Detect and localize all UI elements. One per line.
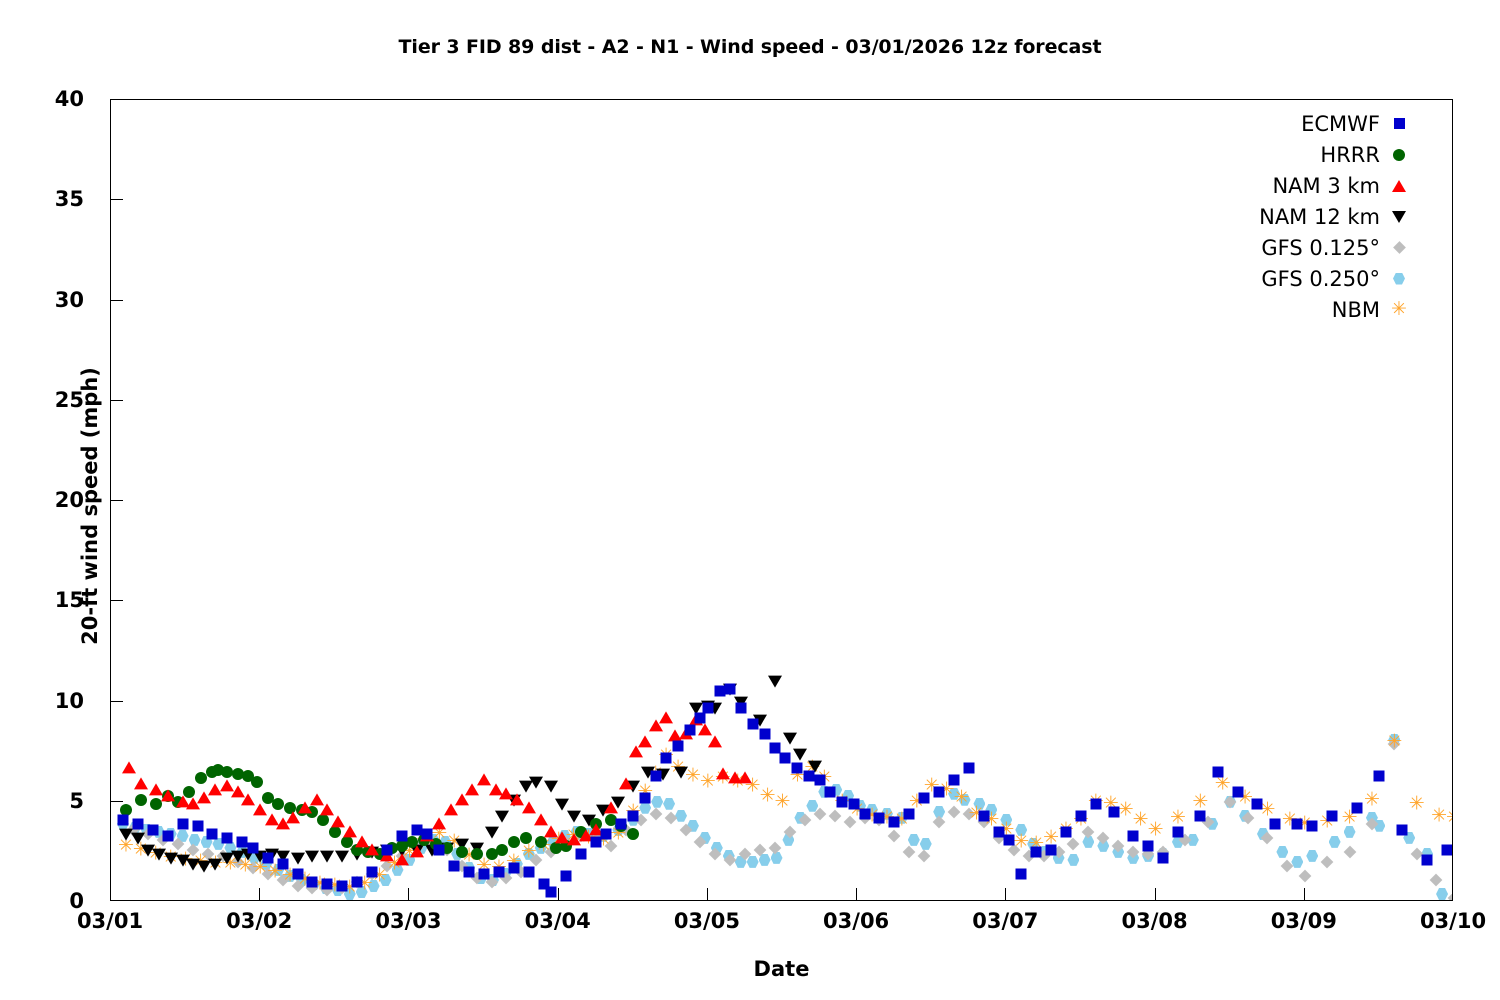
data-point bbox=[307, 876, 318, 887]
data-point bbox=[934, 786, 945, 797]
data-point bbox=[576, 848, 587, 859]
legend-item-ecmwf[interactable]: ECMWF bbox=[1160, 108, 1410, 139]
data-point bbox=[859, 808, 870, 819]
y-tick-label: 10 bbox=[14, 689, 84, 713]
data-point bbox=[780, 752, 791, 763]
data-point bbox=[411, 824, 422, 835]
data-point bbox=[1061, 826, 1072, 837]
square-marker-icon bbox=[1388, 113, 1410, 135]
data-point bbox=[673, 740, 684, 751]
y-tick-label: 20 bbox=[14, 488, 84, 512]
asterisk-marker-icon: ✳ bbox=[1388, 299, 1410, 321]
x-tick-label: 03/08 bbox=[1121, 909, 1187, 933]
data-point bbox=[759, 728, 770, 739]
data-point bbox=[837, 796, 848, 807]
data-point bbox=[601, 828, 612, 839]
data-point bbox=[978, 810, 989, 821]
data-point bbox=[464, 866, 475, 877]
data-point bbox=[192, 820, 203, 831]
y-tick-label: 0 bbox=[14, 889, 84, 913]
data-point bbox=[725, 684, 736, 695]
data-point bbox=[546, 886, 557, 897]
x-tick-label: 03/04 bbox=[525, 909, 591, 933]
x-tick-mark bbox=[1155, 888, 1156, 901]
data-point bbox=[770, 742, 781, 753]
data-point bbox=[628, 810, 639, 821]
data-point bbox=[367, 866, 378, 877]
y-tick-label: 5 bbox=[14, 789, 84, 813]
data-point bbox=[714, 686, 725, 697]
data-point bbox=[1374, 770, 1385, 781]
data-point bbox=[508, 862, 519, 873]
data-point bbox=[1046, 844, 1057, 855]
data-point bbox=[825, 786, 836, 797]
data-point bbox=[1441, 844, 1452, 855]
y-tick-label: 25 bbox=[14, 388, 84, 412]
data-point bbox=[889, 816, 900, 827]
y-tick-mark bbox=[110, 600, 123, 601]
data-point bbox=[792, 762, 803, 773]
x-tick-mark bbox=[408, 888, 409, 901]
data-point bbox=[1232, 786, 1243, 797]
legend-item-nbm[interactable]: NBM✳ bbox=[1160, 294, 1410, 325]
legend-item-nam-3-km[interactable]: NAM 3 km bbox=[1160, 170, 1410, 201]
data-point bbox=[849, 798, 860, 809]
y-tick-label: 30 bbox=[14, 288, 84, 312]
data-point bbox=[262, 852, 273, 863]
data-point bbox=[479, 868, 490, 879]
data-point bbox=[804, 770, 815, 781]
data-point bbox=[1252, 798, 1263, 809]
chart-figure: Tier 3 FID 89 dist - A2 - N1 - Wind spee… bbox=[0, 0, 1500, 1000]
chart-legend: ECMWFHRRRNAM 3 kmNAM 12 kmGFS 0.125°GFS … bbox=[1160, 108, 1410, 325]
data-point bbox=[702, 702, 713, 713]
diamond-marker-icon bbox=[1388, 237, 1410, 259]
data-point bbox=[1352, 802, 1363, 813]
x-tick-label: 03/06 bbox=[823, 909, 889, 933]
data-point bbox=[1031, 846, 1042, 857]
data-point bbox=[434, 844, 445, 855]
data-point bbox=[919, 792, 930, 803]
y-tick-mark bbox=[110, 400, 123, 401]
x-axis-label: Date bbox=[110, 957, 1453, 981]
data-point bbox=[1292, 818, 1303, 829]
x-tick-mark bbox=[1005, 888, 1006, 901]
data-point bbox=[449, 860, 460, 871]
data-point bbox=[1172, 826, 1183, 837]
data-point bbox=[650, 770, 661, 781]
data-point bbox=[322, 878, 333, 889]
data-point bbox=[337, 880, 348, 891]
x-tick-mark bbox=[259, 888, 260, 901]
x-tick-mark bbox=[1304, 888, 1305, 901]
y-tick-label: 15 bbox=[14, 588, 84, 612]
x-tick-label: 03/03 bbox=[375, 909, 441, 933]
data-point bbox=[590, 836, 601, 847]
y-tick-mark bbox=[110, 300, 123, 301]
data-point bbox=[1075, 810, 1086, 821]
data-point bbox=[277, 858, 288, 869]
data-point bbox=[747, 718, 758, 729]
data-point bbox=[993, 826, 1004, 837]
data-point bbox=[237, 836, 248, 847]
data-point bbox=[1090, 798, 1101, 809]
y-tick-mark bbox=[110, 199, 123, 200]
data-point bbox=[177, 818, 188, 829]
data-point bbox=[247, 842, 258, 853]
data-point bbox=[1004, 834, 1015, 845]
data-point bbox=[640, 792, 651, 803]
x-tick-label: 03/05 bbox=[674, 909, 740, 933]
data-point bbox=[904, 808, 915, 819]
data-point bbox=[661, 752, 672, 763]
data-point bbox=[695, 712, 706, 723]
data-point bbox=[684, 724, 695, 735]
data-point bbox=[874, 812, 885, 823]
data-point bbox=[1213, 766, 1224, 777]
x-tick-mark bbox=[856, 888, 857, 901]
x-tick-mark bbox=[558, 888, 559, 901]
data-point bbox=[1016, 868, 1027, 879]
data-point bbox=[1195, 810, 1206, 821]
data-point bbox=[396, 830, 407, 841]
data-point bbox=[493, 866, 504, 877]
legend-item-gfs-0-125[interactable]: GFS 0.125° bbox=[1160, 232, 1410, 263]
data-point bbox=[1108, 806, 1119, 817]
data-point bbox=[814, 774, 825, 785]
data-point bbox=[561, 870, 572, 881]
x-tick-label: 03/07 bbox=[972, 909, 1038, 933]
data-point bbox=[949, 774, 960, 785]
data-point bbox=[147, 824, 158, 835]
data-point bbox=[132, 818, 143, 829]
hexagon-marker-icon bbox=[1388, 268, 1410, 290]
data-point bbox=[1307, 820, 1318, 831]
x-tick-label: 03/09 bbox=[1271, 909, 1337, 933]
x-tick-label: 03/10 bbox=[1420, 909, 1486, 933]
data-point bbox=[352, 876, 363, 887]
data-point bbox=[222, 832, 233, 843]
y-tick-mark bbox=[110, 701, 123, 702]
data-point bbox=[964, 762, 975, 773]
data-point bbox=[382, 844, 393, 855]
data-point bbox=[207, 828, 218, 839]
data-point bbox=[1128, 830, 1139, 841]
x-tick-label: 03/02 bbox=[226, 909, 292, 933]
triangle-up-marker-icon bbox=[1388, 175, 1410, 197]
legend-item-gfs-0-250[interactable]: GFS 0.250° bbox=[1160, 263, 1410, 294]
y-tick-label: 40 bbox=[14, 87, 84, 111]
y-tick-mark bbox=[110, 801, 123, 802]
data-point bbox=[1269, 818, 1280, 829]
x-tick-mark bbox=[707, 888, 708, 901]
circle-marker-icon bbox=[1388, 144, 1410, 166]
data-point bbox=[117, 814, 128, 825]
data-point bbox=[735, 702, 746, 713]
legend-item-hrrr[interactable]: HRRR bbox=[1160, 139, 1410, 170]
data-point bbox=[616, 818, 627, 829]
data-point bbox=[1158, 852, 1169, 863]
data-point bbox=[1422, 854, 1433, 865]
y-tick-label: 35 bbox=[14, 187, 84, 211]
chart-title: Tier 3 FID 89 dist - A2 - N1 - Wind spee… bbox=[0, 36, 1500, 58]
legend-item-nam-12-km[interactable]: NAM 12 km bbox=[1160, 201, 1410, 232]
data-point bbox=[162, 830, 173, 841]
y-tick-mark bbox=[110, 500, 123, 501]
triangle-down-marker-icon bbox=[1388, 206, 1410, 228]
data-point bbox=[1143, 840, 1154, 851]
data-point bbox=[292, 868, 303, 879]
data-point bbox=[1396, 824, 1407, 835]
data-point bbox=[1326, 810, 1337, 821]
data-point bbox=[523, 866, 534, 877]
data-point bbox=[422, 828, 433, 839]
x-tick-label: 03/01 bbox=[77, 909, 143, 933]
